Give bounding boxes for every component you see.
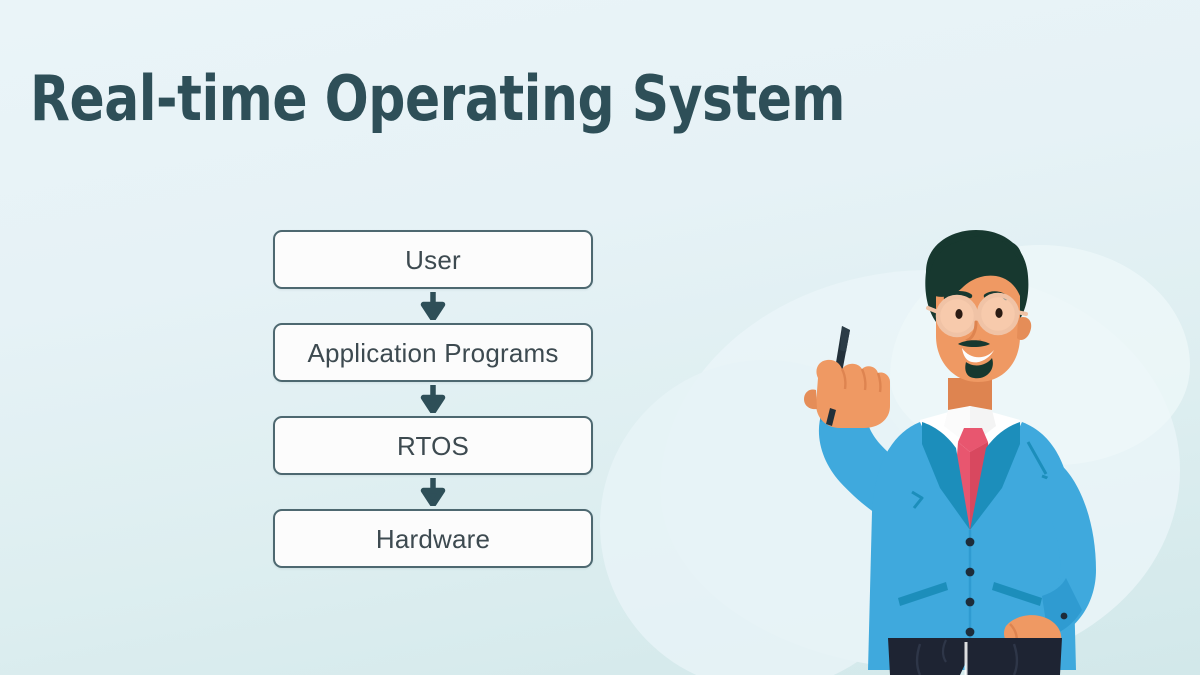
node-label: Application Programs [307,340,558,366]
jacket-button [966,628,975,637]
jacket-button [966,538,975,547]
hand-holding-pointer [804,360,890,428]
ear [1017,317,1031,340]
arrow-down-icon-3 [273,475,593,509]
eye-right [995,308,1002,318]
cuff-button [1061,613,1068,620]
teacher-with-pointer-illustration [770,230,1200,675]
diagram-node-user[interactable]: User [273,230,593,289]
node-label: RTOS [397,433,469,459]
page-title: Real-time Operating System [30,62,845,135]
trousers [888,638,1062,675]
node-label: Hardware [376,526,490,552]
rtos-architecture-diagram: User Application Programs RTOS Hardware [273,230,593,568]
node-label: User [405,247,461,273]
jacket-button [966,568,975,577]
diagram-node-rtos[interactable]: RTOS [273,416,593,475]
jacket-button [966,598,975,607]
arrow-down-icon-2 [273,382,593,416]
diagram-node-hardware[interactable]: Hardware [273,509,593,568]
diagram-node-application-programs[interactable]: Application Programs [273,323,593,382]
eye-left [955,309,962,319]
arrow-down-icon-1 [273,289,593,323]
infographic-canvas: Real-time Operating System User Applicat… [0,0,1200,675]
